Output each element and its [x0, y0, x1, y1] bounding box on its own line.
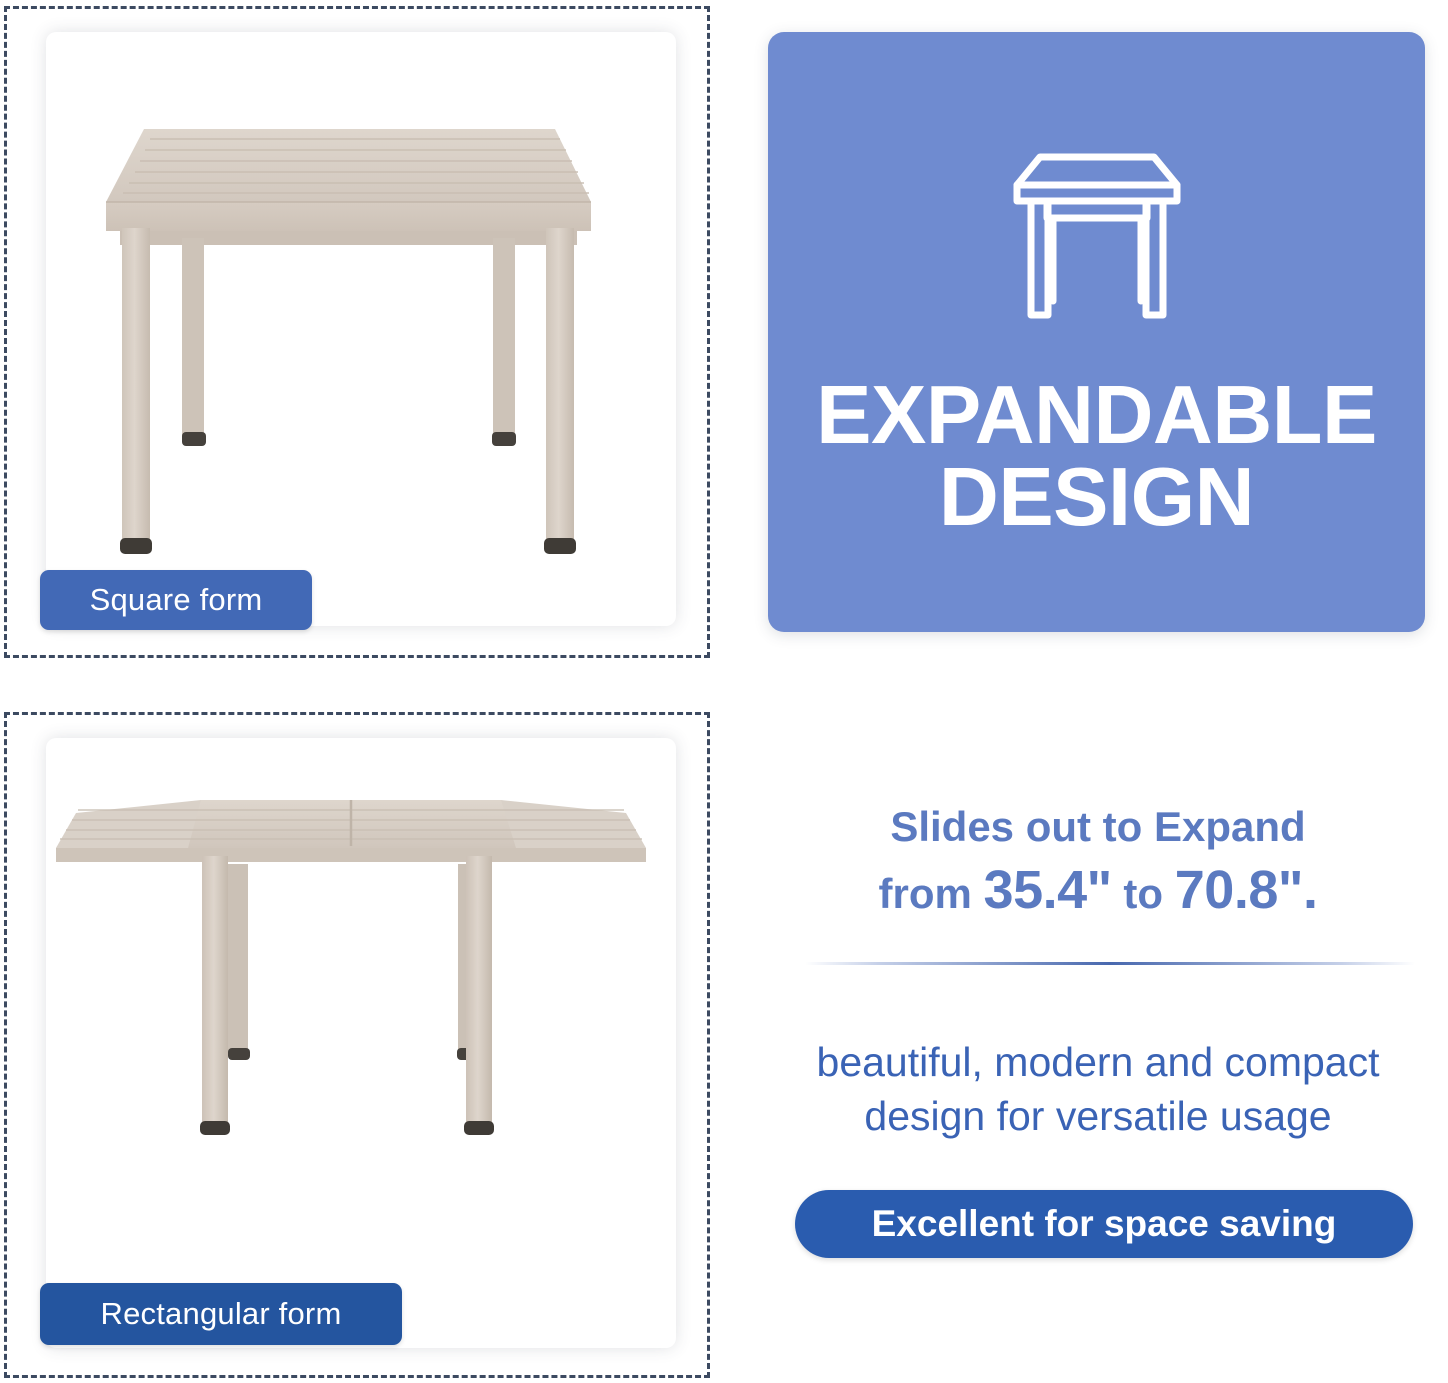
hero-title-line1: EXPANDABLE	[816, 368, 1377, 461]
expand-headline-line2: from 35.4" to 70.8".	[768, 855, 1428, 925]
expand-headline: Slides out to Expand from 35.4" to 70.8"…	[768, 800, 1428, 925]
tagline: beautiful, modern and compact design for…	[760, 1035, 1436, 1143]
expandable-design-hero-panel: EXPANDABLE DESIGN	[768, 32, 1425, 632]
expand-period: .	[1303, 860, 1318, 920]
expand-headline-line1: Slides out to Expand	[768, 800, 1428, 855]
rectangular-form-badge-label: Rectangular form	[101, 1296, 342, 1332]
infographic-stage: Square form EXPANDABLE DESIGN	[0, 0, 1448, 1383]
square-table-photo	[46, 32, 676, 626]
table-icon	[1004, 126, 1190, 322]
tagline-line2: design for versatile usage	[760, 1089, 1436, 1143]
square-table-photo-card	[46, 32, 676, 626]
expand-from-word: from	[879, 870, 972, 917]
expand-to-word: to	[1123, 870, 1163, 917]
square-table-illustration	[46, 32, 676, 626]
section-divider	[805, 962, 1415, 965]
rectangular-table-photo	[46, 738, 676, 1348]
hero-title-line2: DESIGN	[768, 456, 1425, 538]
space-saving-button[interactable]: Excellent for space saving	[795, 1190, 1413, 1258]
square-form-badge: Square form	[40, 570, 312, 630]
rectangular-table-illustration	[46, 738, 676, 1348]
expand-from-value: 35.4"	[984, 860, 1112, 920]
rectangular-form-badge: Rectangular form	[40, 1283, 402, 1345]
square-form-badge-label: Square form	[90, 582, 263, 618]
expand-to-value: 70.8"	[1175, 860, 1303, 920]
rectangular-table-photo-card	[46, 738, 676, 1348]
tagline-line1: beautiful, modern and compact	[760, 1035, 1436, 1089]
hero-title: EXPANDABLE DESIGN	[768, 374, 1425, 538]
space-saving-button-label: Excellent for space saving	[872, 1203, 1337, 1245]
